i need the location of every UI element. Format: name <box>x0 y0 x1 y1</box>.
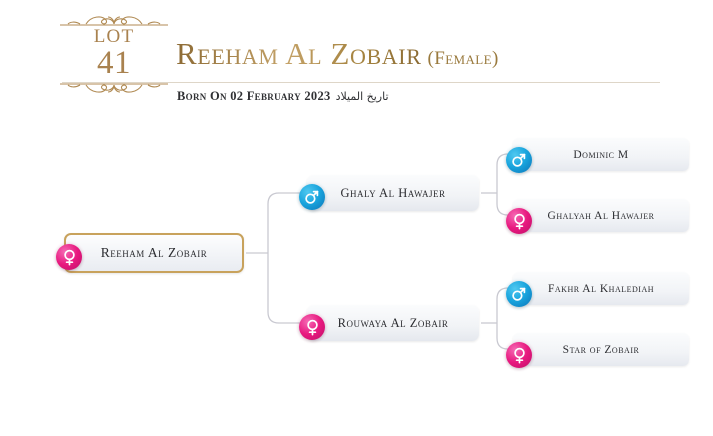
pedigree-node-dam-sire-label: Fakhr Al Khalediah <box>548 283 654 295</box>
pedigree-node-sire-dam[interactable]: Ghalyah Al Hawajer <box>513 199 689 232</box>
female-icon <box>299 314 325 340</box>
pedigree-node-sire-sire-label: Dominic M <box>573 149 628 161</box>
lot-number: 41 <box>58 47 170 79</box>
pedigree-node-dam-label: Rouwaya Al Zobair <box>338 316 449 331</box>
lot-word: LOT <box>58 27 170 47</box>
birth-date-text: Born On 02 February 2023 <box>177 89 331 103</box>
title-sex-suffix: (Female) <box>428 48 499 69</box>
title-block: Reeham Al Zobair(Female) <box>176 36 499 72</box>
flourish-bottom-icon <box>58 81 170 97</box>
header-divider <box>62 82 660 83</box>
birth-date-arabic-label: تاريخ الميلاد <box>336 90 389 103</box>
pedigree-node-sire[interactable]: Ghaly Al Hawajer <box>307 175 479 211</box>
pedigree-node-root-label: Reeham Al Zobair <box>101 245 208 261</box>
female-icon <box>56 244 82 270</box>
lot-badge: LOT 41 <box>58 12 170 97</box>
pedigree-node-dam-sire[interactable]: Fakhr Al Khalediah <box>513 272 689 305</box>
male-icon <box>299 184 325 210</box>
female-icon <box>506 208 532 234</box>
pedigree-node-dam-dam-label: Star of Zobair <box>563 344 640 356</box>
pedigree-node-sire-dam-label: Ghalyah Al Hawajer <box>548 210 655 222</box>
pedigree-node-dam-dam[interactable]: Star of Zobair <box>513 333 689 366</box>
female-icon <box>506 342 532 368</box>
pedigree-tree: Reeham Al Zobair Ghaly Al Hawajer Rouway… <box>0 120 713 436</box>
pedigree-node-dam[interactable]: Rouwaya Al Zobair <box>307 305 479 341</box>
page-title: Reeham Al Zobair <box>176 36 422 71</box>
pedigree-node-sire-sire[interactable]: Dominic M <box>513 138 689 171</box>
header: LOT 41 Reeham Al Zobair(Female) Born On … <box>0 0 713 120</box>
male-icon <box>506 281 532 307</box>
birth-date-line: Born On 02 February 2023تاريخ الميلاد <box>177 89 389 104</box>
pedigree-node-sire-label: Ghaly Al Hawajer <box>340 186 445 201</box>
male-icon <box>506 147 532 173</box>
pedigree-node-root[interactable]: Reeham Al Zobair <box>64 233 244 273</box>
